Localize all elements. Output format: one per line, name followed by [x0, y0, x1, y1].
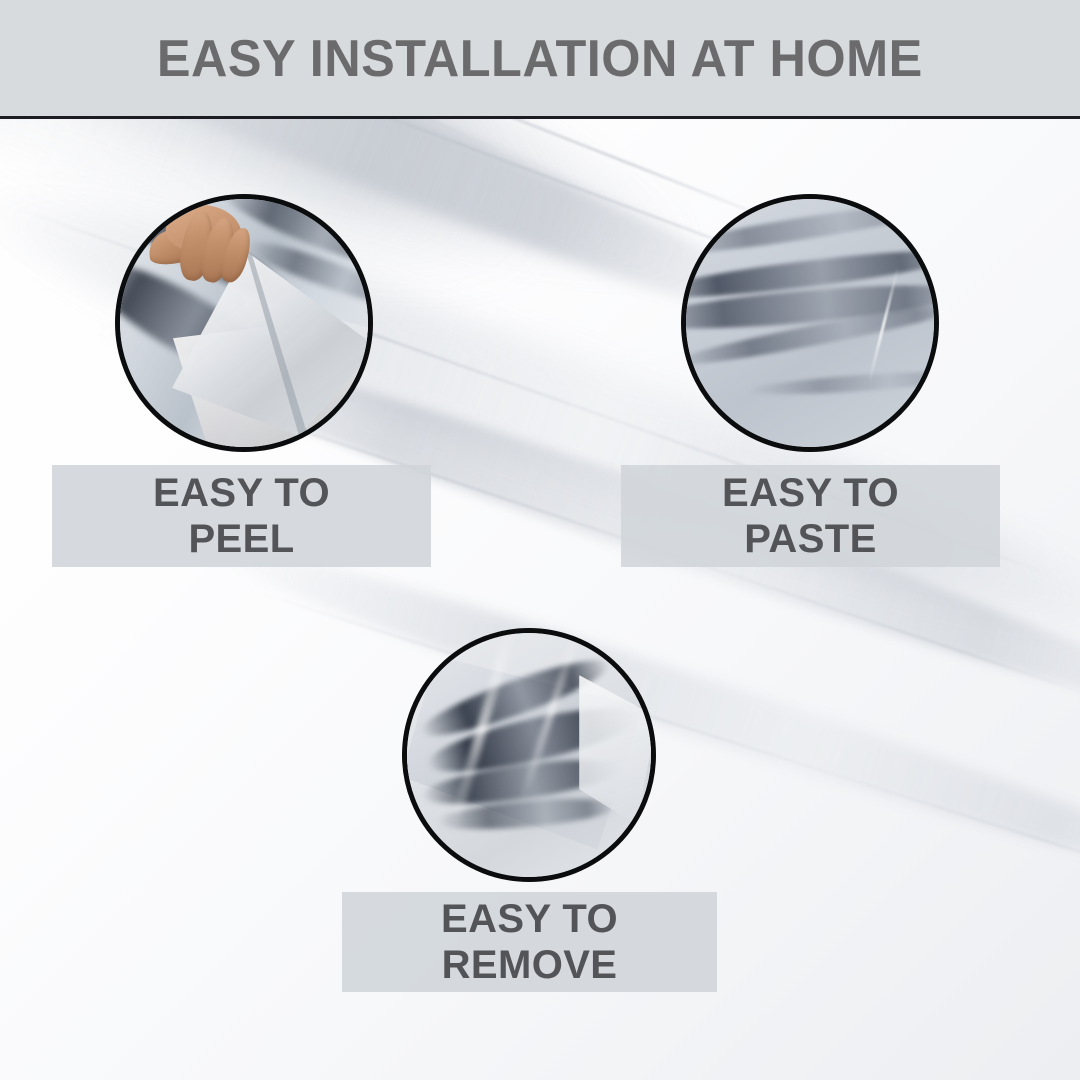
- marble-vein-line: [0, 119, 502, 152]
- paste-photo-content: [686, 199, 934, 447]
- installation-infographic: EASY INSTALLATION AT HOME: [0, 0, 1080, 1080]
- marble-background: EASY TO PEEL EASY TO PASTE: [0, 119, 1080, 1080]
- marble-vein-line: [242, 587, 1080, 878]
- step-photo-remove: [402, 628, 656, 882]
- caption-peel-line1: EASY TO: [153, 470, 330, 516]
- caption-remove: EASY TO REMOVE: [342, 892, 717, 992]
- caption-peel: EASY TO PEEL: [52, 465, 431, 567]
- caption-peel-line2: PEEL: [188, 516, 294, 562]
- caption-paste-line1: EASY TO: [722, 470, 899, 516]
- step-photo-paste: [681, 194, 939, 452]
- hand-icon: [142, 201, 260, 297]
- caption-remove-line1: EASY TO: [441, 896, 618, 942]
- header-bar: EASY INSTALLATION AT HOME: [0, 0, 1080, 117]
- caption-remove-line2: REMOVE: [442, 942, 618, 988]
- remove-photo-content: [407, 633, 651, 877]
- caption-paste-line2: PASTE: [744, 516, 876, 562]
- marble-vein-line: [0, 119, 790, 228]
- step-photo-peel: [115, 194, 373, 452]
- caption-paste: EASY TO PASTE: [621, 465, 1000, 567]
- peel-photo-content: [120, 199, 368, 447]
- page-title: EASY INSTALLATION AT HOME: [157, 29, 923, 89]
